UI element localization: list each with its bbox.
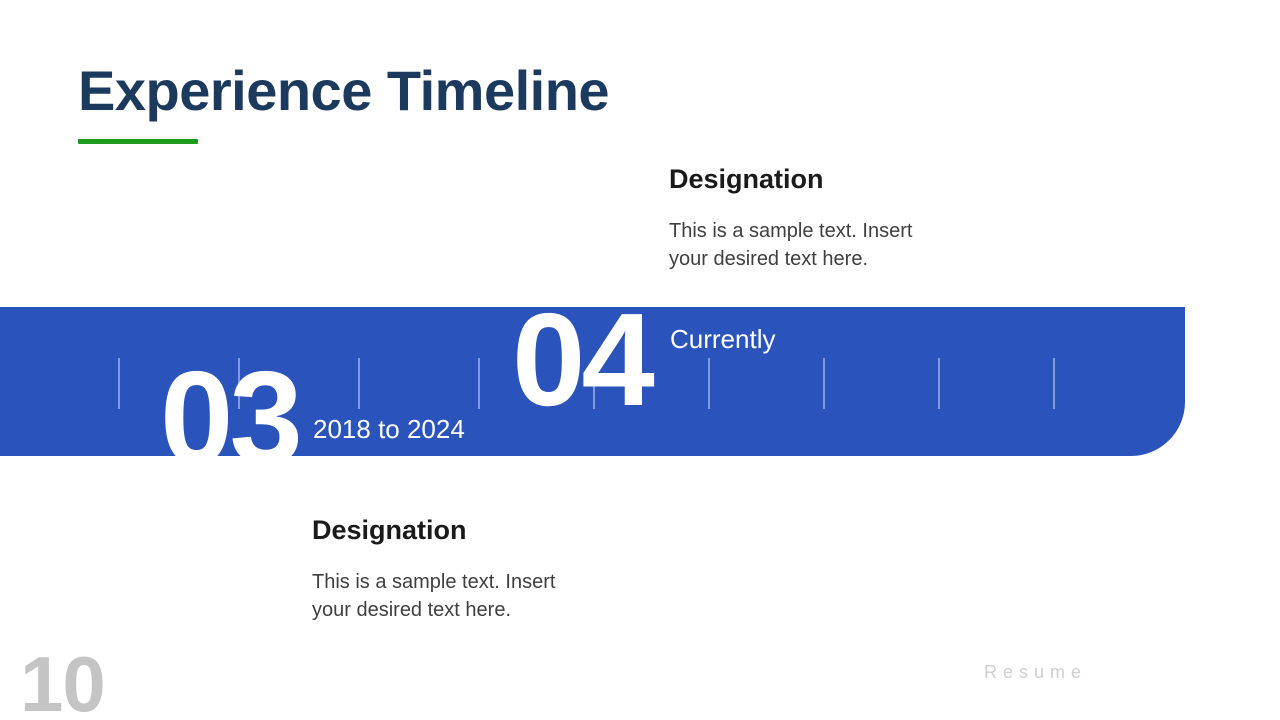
milestone-period-04: Currently <box>670 326 775 352</box>
milestone-heading-03: Designation <box>312 514 467 546</box>
timeline-tick <box>118 358 120 409</box>
milestone-body-04: This is a sample text. Insert your desir… <box>669 217 939 274</box>
milestone-heading-04: Designation <box>669 163 824 195</box>
title-accent-rule <box>78 139 198 144</box>
milestone-body-03: This is a sample text. Insert your desir… <box>312 568 582 625</box>
page-title: Experience Timeline <box>78 58 609 124</box>
timeline-tick <box>478 358 480 409</box>
milestone-number-03: 03 <box>160 352 299 484</box>
milestone-period-03: 2018 to 2024 <box>313 416 465 442</box>
timeline-tick <box>823 358 825 409</box>
slide-canvas: Experience Timeline 03 2018 to 2024 04 C… <box>0 0 1280 720</box>
timeline-tick <box>1053 358 1055 409</box>
timeline-tick <box>358 358 360 409</box>
footer-section-label: Resume <box>984 662 1087 683</box>
milestone-number-04: 04 <box>512 294 651 426</box>
timeline-tick <box>938 358 940 409</box>
timeline-tick <box>708 358 710 409</box>
page-number: 10 <box>20 645 105 720</box>
